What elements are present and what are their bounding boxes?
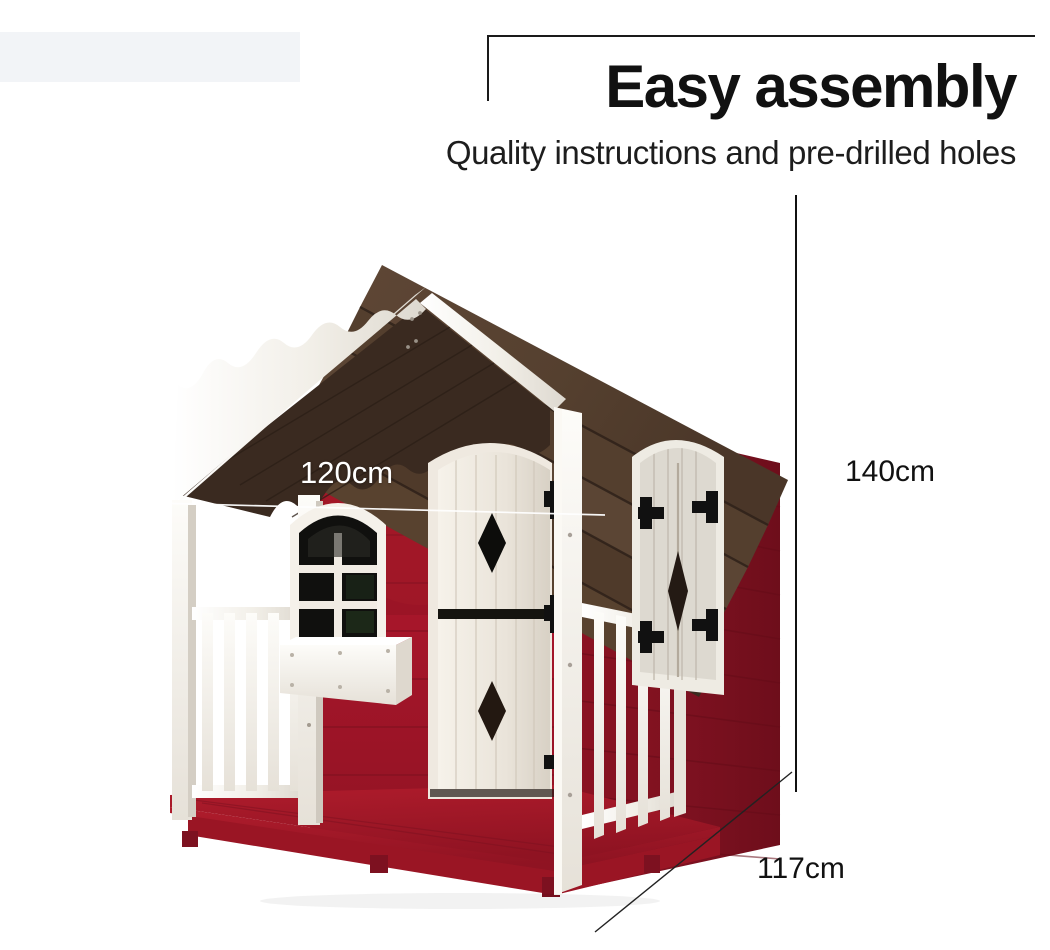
- porch-railing-left: [192, 607, 304, 798]
- window-right-shuttered: [632, 440, 724, 695]
- bottom-spacer: [0, 940, 1050, 950]
- page-subtitle: Quality instructions and pre-drilled hol…: [446, 134, 1016, 172]
- dimension-label-width: 120cm: [300, 455, 393, 491]
- window-left: [290, 503, 386, 645]
- product-feature-slide: Easy assembly Quality instructions and p…: [0, 0, 1050, 950]
- porch-post-right: [554, 407, 582, 895]
- corner-bracket-icon-horizontal: [487, 35, 1035, 37]
- corner-bracket-icon-vertical: [487, 35, 489, 101]
- porch-post-left: [172, 500, 196, 820]
- dimension-label-height: 140cm: [845, 455, 935, 489]
- playhouse-illustration: [120, 195, 800, 935]
- decorative-grey-band: [0, 32, 300, 82]
- window-flower-box: [280, 637, 412, 705]
- vertical-dimension-line-icon: [795, 195, 797, 792]
- dimension-label-depth: 117cm: [757, 852, 845, 886]
- playhouse-svg: [120, 195, 800, 935]
- page-title: Easy assembly: [605, 52, 1016, 121]
